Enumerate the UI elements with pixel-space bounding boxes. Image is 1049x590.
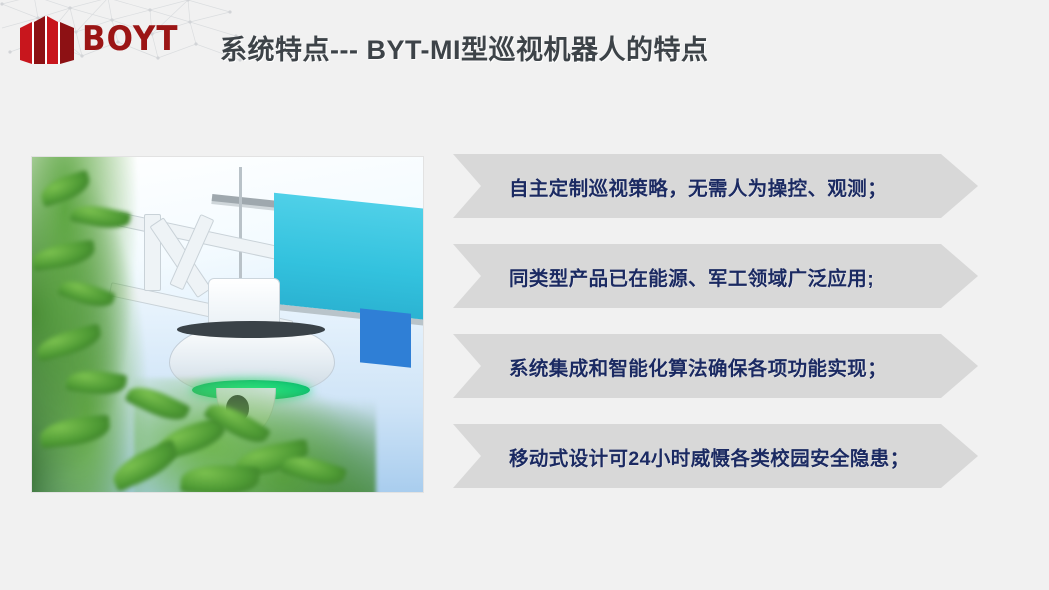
feature-banner-label: 自主定制巡视策略，无需人为操控、观测； xyxy=(453,172,887,201)
feature-banner-label: 系统集成和智能化算法确保各项功能实现； xyxy=(453,352,887,381)
robot-photo-image xyxy=(32,157,423,492)
feature-banner[interactable]: 自主定制巡视策略，无需人为操控、观测； xyxy=(453,154,978,218)
robot-photo xyxy=(32,157,423,492)
photo-foliage xyxy=(32,157,423,492)
feature-banner-label: 同类型产品已在能源、军工领域广泛应用; xyxy=(453,262,874,291)
feature-banner[interactable]: 移动式设计可24小时威慑各类校园安全隐患； xyxy=(453,424,978,488)
boyt-panels-mark-icon xyxy=(18,14,78,66)
feature-banner-label: 移动式设计可24小时威慑各类校园安全隐患； xyxy=(453,442,910,471)
feature-banner[interactable]: 同类型产品已在能源、军工领域广泛应用; xyxy=(453,244,978,308)
slide-header: BOYT 系统特点--- BYT-MI型巡视机器人的特点 xyxy=(0,0,1049,86)
feature-banner-list: 自主定制巡视策略，无需人为操控、观测； 同类型产品已在能源、军工领域广泛应用; … xyxy=(453,154,978,488)
feature-banner[interactable]: 系统集成和智能化算法确保各项功能实现； xyxy=(453,334,978,398)
brand-wordmark: BOYT xyxy=(82,23,178,56)
page-title: 系统特点--- BYT-MI型巡视机器人的特点 xyxy=(220,28,708,67)
brand-logo[interactable]: BOYT xyxy=(18,12,188,67)
